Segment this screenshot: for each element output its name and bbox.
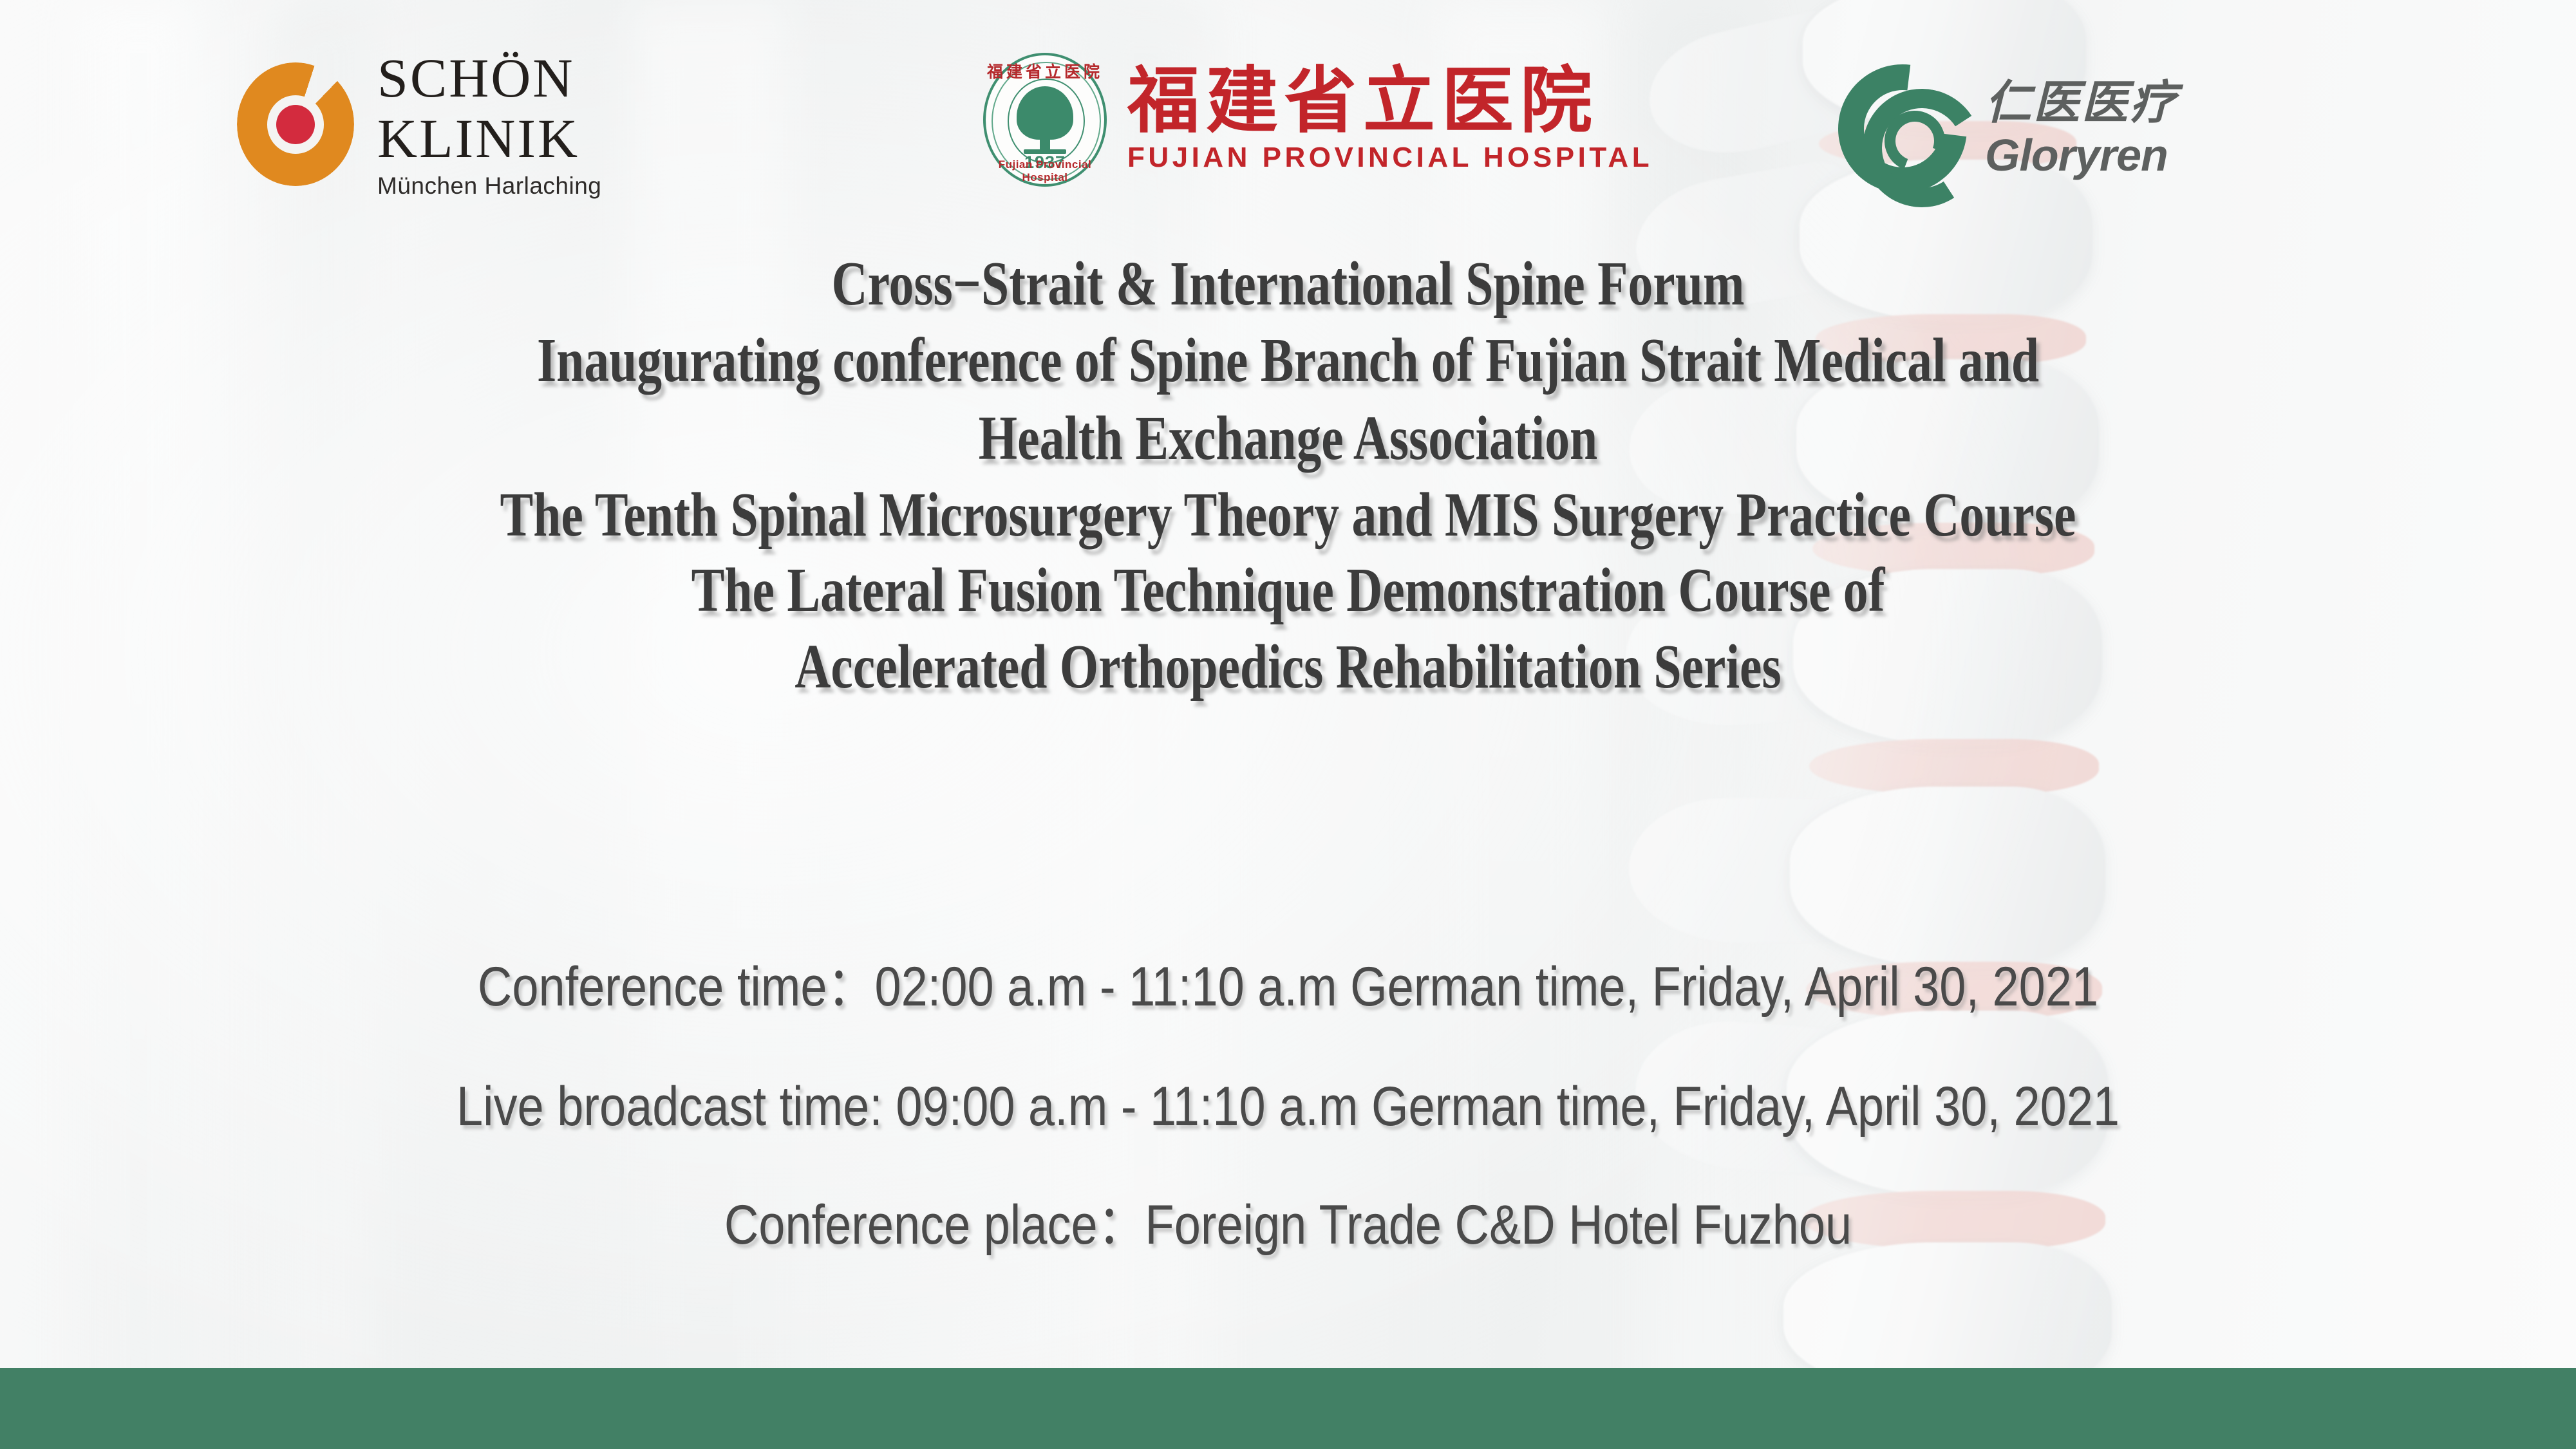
schoen-klinik-line2: KLINIK — [377, 111, 601, 166]
title-line-5: The Lateral Fusion Technique Demonstrati… — [258, 559, 2318, 621]
conference-place-line: Conference place：Foreign Trade C&D Hotel… — [180, 1197, 2396, 1253]
fujian-hospital-name-en: FUJIAN PROVINCIAL HOSPITAL — [1127, 142, 1653, 174]
logo-schoen-klinik: SCHÖN KLINIK München Harlaching — [237, 50, 601, 198]
gloryren-spiral-icon — [1838, 64, 1967, 193]
logo-fujian-provincial-hospital: 福建省立医院 1937 Fujian Provincial Hospital 福… — [983, 53, 1653, 187]
conference-banner: SCHÖN KLINIK München Harlaching 福建省立医院 1… — [0, 0, 2576, 1449]
schoen-klinik-subtitle: München Harlaching — [377, 174, 601, 198]
live-broadcast-time-line: Live broadcast time: 09:00 a.m - 11:10 a… — [180, 1079, 2396, 1134]
event-details-block: Conference time：02:00 a.m - 11:10 a.m Ge… — [0, 959, 2576, 1253]
title-line-3: Health Exchange Association — [258, 407, 2318, 469]
title-line-1: Cross−Strait & International Spine Forum — [258, 252, 2318, 315]
title-line-2: Inaugurating conference of Spine Branch … — [258, 329, 2318, 391]
logo-row: SCHÖN KLINIK München Harlaching 福建省立医院 1… — [0, 0, 2576, 219]
schoen-klinik-line1: SCHÖN — [377, 50, 601, 106]
gloryren-name-cn: 仁医医疗 — [1985, 80, 2178, 126]
gloryren-name-en: Gloryren — [1985, 133, 2178, 178]
title-line-6: Accelerated Orthopedics Rehabilitation S… — [258, 635, 2318, 698]
footer-bar — [0, 1368, 2576, 1449]
event-title-block: Cross−Strait & International Spine Forum… — [0, 252, 2576, 698]
fujian-hospital-seal-icon: 福建省立医院 1937 Fujian Provincial Hospital — [983, 53, 1107, 187]
schoen-klinik-ring-icon — [237, 62, 354, 186]
fujian-hospital-name-cn: 福建省立医院 — [1127, 66, 1653, 138]
seal-arc-bottom-text: Fujian Provincial Hospital — [983, 158, 1107, 184]
logo-gloryren: 仁医医疗 Gloryren — [1838, 64, 2178, 193]
conference-time-line: Conference time：02:00 a.m - 11:10 a.m Ge… — [180, 959, 2396, 1014]
title-line-4: The Tenth Spinal Microsurgery Theory and… — [258, 483, 2318, 546]
